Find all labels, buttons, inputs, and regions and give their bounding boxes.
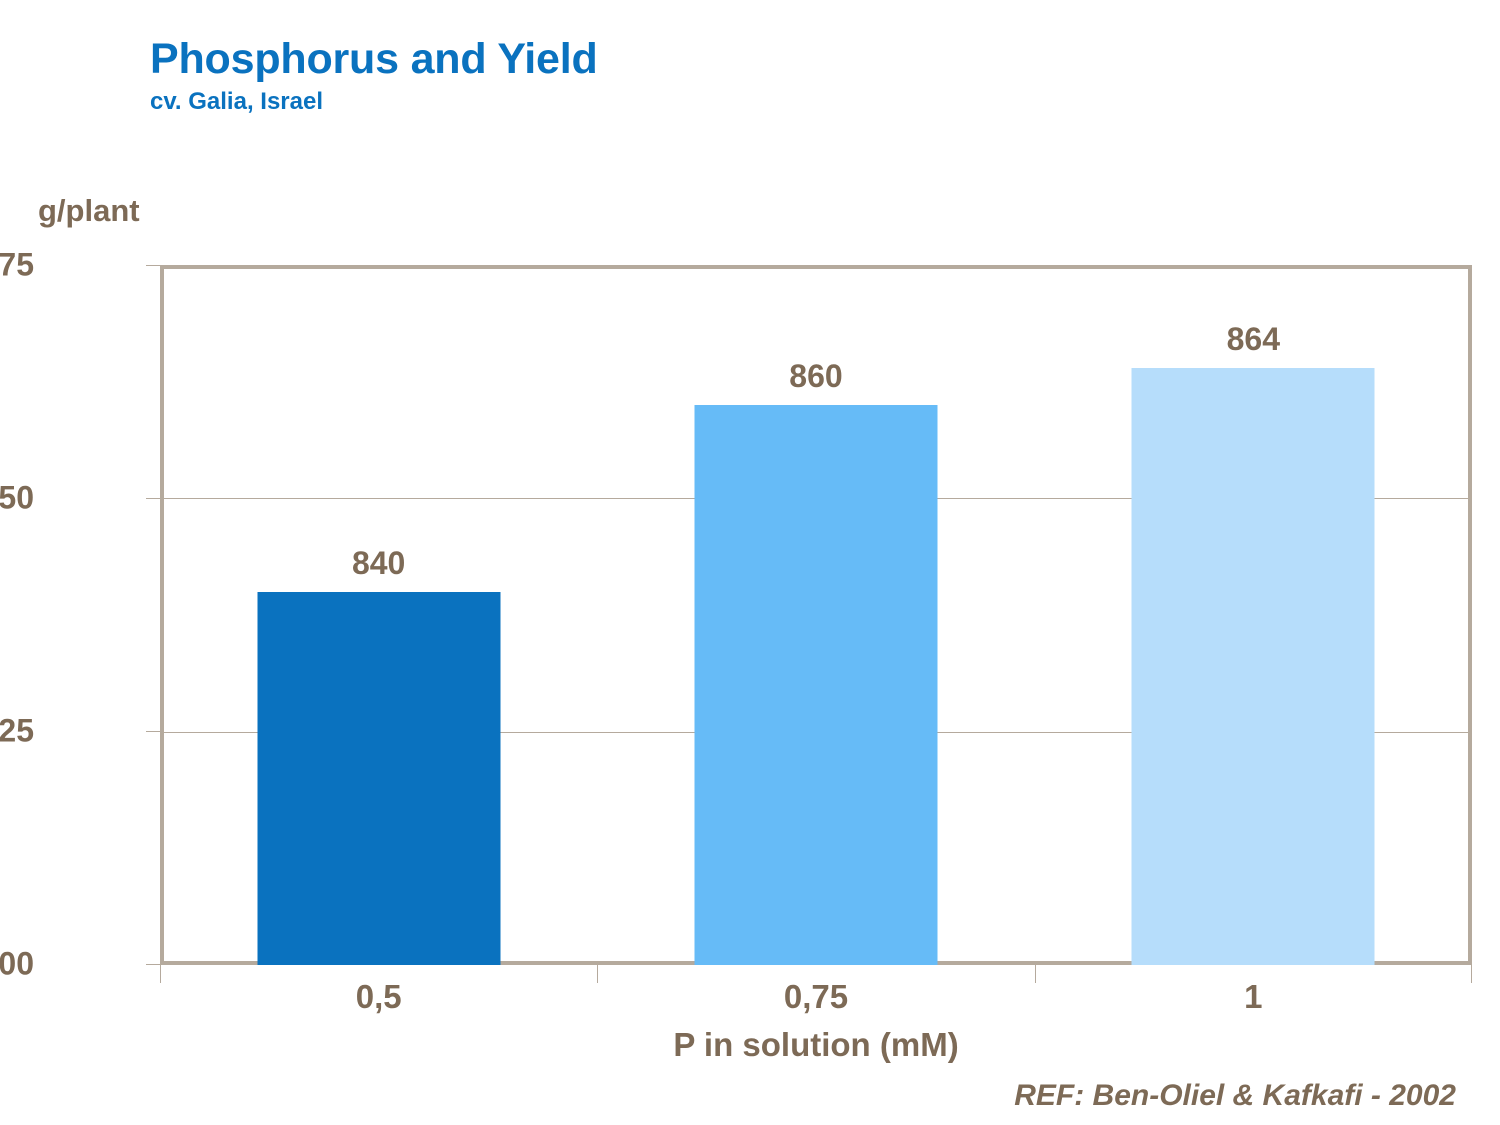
y-tick-mark-800 [146,964,160,965]
bar-value-0: 840 [352,545,405,582]
bar-slot-2: 864 [1035,265,1472,965]
y-tick-mark-875 [146,265,160,266]
x-axis-labels: 0,5 0,75 1 [160,978,1472,1022]
x-label-1: 0,75 [597,978,1034,1016]
bars-layer: 840 860 864 [160,265,1472,965]
reference-note: REF: Ben-Oliel & Kafkafi - 2002 [1014,1079,1456,1113]
title-block: Phosphorus and Yield cv. Galia, Israel [150,38,598,116]
bar-value-2: 864 [1227,321,1280,358]
y-tick-mark-850 [146,498,160,499]
y-tick-label-825: 825 [0,713,34,750]
y-axis-unit-label: g/plant [38,193,140,229]
x-label-2: 1 [1035,978,1472,1016]
y-tick-label-850: 850 [0,480,34,517]
x-label-0: 0,5 [160,978,597,1016]
y-tick-label-875: 875 [0,247,34,284]
chart-subtitle: cv. Galia, Israel [150,88,598,116]
y-tick-mark-825 [146,731,160,732]
y-tick-label-800: 800 [0,946,34,983]
bar-value-1: 860 [789,358,842,395]
bar-1[interactable] [694,405,937,965]
page-title: Phosphorus and Yield [150,38,598,82]
bar-0[interactable] [257,592,500,965]
bar-2[interactable] [1132,368,1375,965]
x-axis-title: P in solution (mM) [160,1026,1472,1064]
bar-slot-1: 860 [597,265,1034,965]
bar-slot-0: 840 [160,265,597,965]
